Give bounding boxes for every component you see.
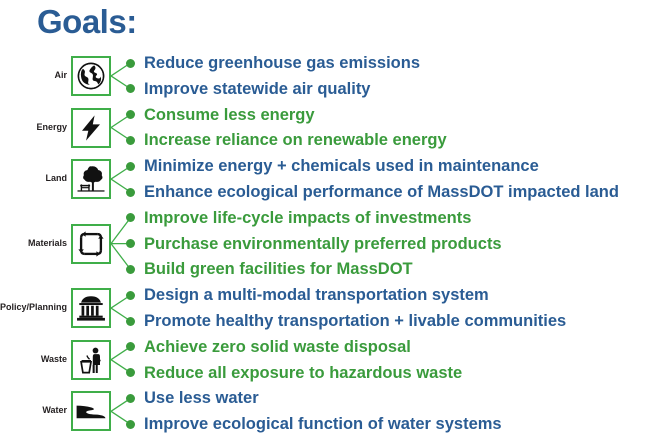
goal-bullet-icon bbox=[126, 213, 135, 222]
category-label-materials: Materials bbox=[0, 238, 67, 249]
goal-bullet-icon bbox=[126, 265, 135, 274]
goal-row: Improve ecological function of water sys… bbox=[126, 411, 502, 437]
goal-bullet-icon bbox=[126, 394, 135, 403]
goal-row: Reduce all exposure to hazardous waste bbox=[126, 360, 462, 386]
goal-row: Improve statewide air quality bbox=[126, 76, 371, 102]
goal-bullet-icon bbox=[126, 110, 135, 119]
goal-bullet-icon bbox=[126, 342, 135, 351]
goal-text: Improve life-cycle impacts of investment… bbox=[144, 208, 471, 228]
goal-bullet-icon bbox=[126, 420, 135, 429]
globe-icon bbox=[73, 58, 109, 94]
category-icon-energy bbox=[71, 108, 111, 148]
goal-bullet-icon bbox=[126, 84, 135, 93]
goal-row: Build green facilities for MassDOT bbox=[126, 256, 413, 282]
goal-text: Increase reliance on renewable energy bbox=[144, 130, 447, 150]
category-label-air: Air bbox=[0, 70, 67, 81]
recycle-arrows-icon bbox=[73, 226, 109, 262]
category-icon-water bbox=[71, 391, 111, 431]
goal-text: Design a multi-modal transportation syst… bbox=[144, 285, 489, 305]
category-icon-waste bbox=[71, 340, 111, 380]
goal-text: Promote healthy transportation + livable… bbox=[144, 311, 566, 331]
goal-row: Promote healthy transportation + livable… bbox=[126, 308, 566, 334]
goal-text: Use less water bbox=[144, 388, 259, 408]
goal-row: Increase reliance on renewable energy bbox=[126, 127, 447, 153]
goal-bullet-icon bbox=[126, 368, 135, 377]
goal-row: Consume less energy bbox=[126, 102, 315, 128]
goal-text: Enhance ecological performance of MassDO… bbox=[144, 182, 619, 202]
goal-bullet-icon bbox=[126, 162, 135, 171]
river-icon bbox=[73, 393, 109, 429]
category-icon-land bbox=[71, 159, 111, 199]
goal-bullet-icon bbox=[126, 136, 135, 145]
goal-bullet-icon bbox=[126, 59, 135, 68]
goal-row: Use less water bbox=[126, 385, 259, 411]
lightning-bolt-icon bbox=[73, 110, 109, 146]
goal-row: Design a multi-modal transportation syst… bbox=[126, 282, 489, 308]
goal-bullet-icon bbox=[126, 239, 135, 248]
category-icon-policy-planning bbox=[71, 288, 111, 328]
category-label-energy: Energy bbox=[0, 122, 67, 133]
goal-bullet-icon bbox=[126, 291, 135, 300]
page-title: Goals: bbox=[37, 2, 137, 42]
goal-row: Enhance ecological performance of MassDO… bbox=[126, 179, 619, 205]
government-building-icon bbox=[73, 290, 109, 326]
category-label-waste: Waste bbox=[0, 354, 67, 365]
category-icon-air bbox=[71, 56, 111, 96]
category-label-land: Land bbox=[0, 173, 67, 184]
category-label-policy-planning: Policy/Planning bbox=[0, 302, 67, 313]
goal-row: Improve life-cycle impacts of investment… bbox=[126, 205, 471, 231]
goal-text: Reduce greenhouse gas emissions bbox=[144, 53, 420, 73]
goal-text: Reduce all exposure to hazardous waste bbox=[144, 363, 462, 383]
trash-person-icon bbox=[73, 342, 109, 378]
goal-text: Minimize energy + chemicals used in main… bbox=[144, 156, 539, 176]
category-label-water: Water bbox=[0, 405, 67, 416]
goal-row: Reduce greenhouse gas emissions bbox=[126, 50, 420, 76]
tree-picnic-icon bbox=[73, 161, 109, 197]
goal-text: Achieve zero solid waste disposal bbox=[144, 337, 411, 357]
goal-bullet-icon bbox=[126, 188, 135, 197]
goal-row: Achieve zero solid waste disposal bbox=[126, 334, 411, 360]
goal-text: Improve statewide air quality bbox=[144, 79, 371, 99]
goal-row: Purchase environmentally preferred produ… bbox=[126, 231, 502, 257]
category-icon-materials bbox=[71, 224, 111, 264]
goal-text: Consume less energy bbox=[144, 105, 315, 125]
goal-row: Minimize energy + chemicals used in main… bbox=[126, 153, 539, 179]
goal-text: Build green facilities for MassDOT bbox=[144, 259, 413, 279]
goal-bullet-icon bbox=[126, 317, 135, 326]
goal-text: Improve ecological function of water sys… bbox=[144, 414, 502, 434]
goal-text: Purchase environmentally preferred produ… bbox=[144, 234, 502, 254]
